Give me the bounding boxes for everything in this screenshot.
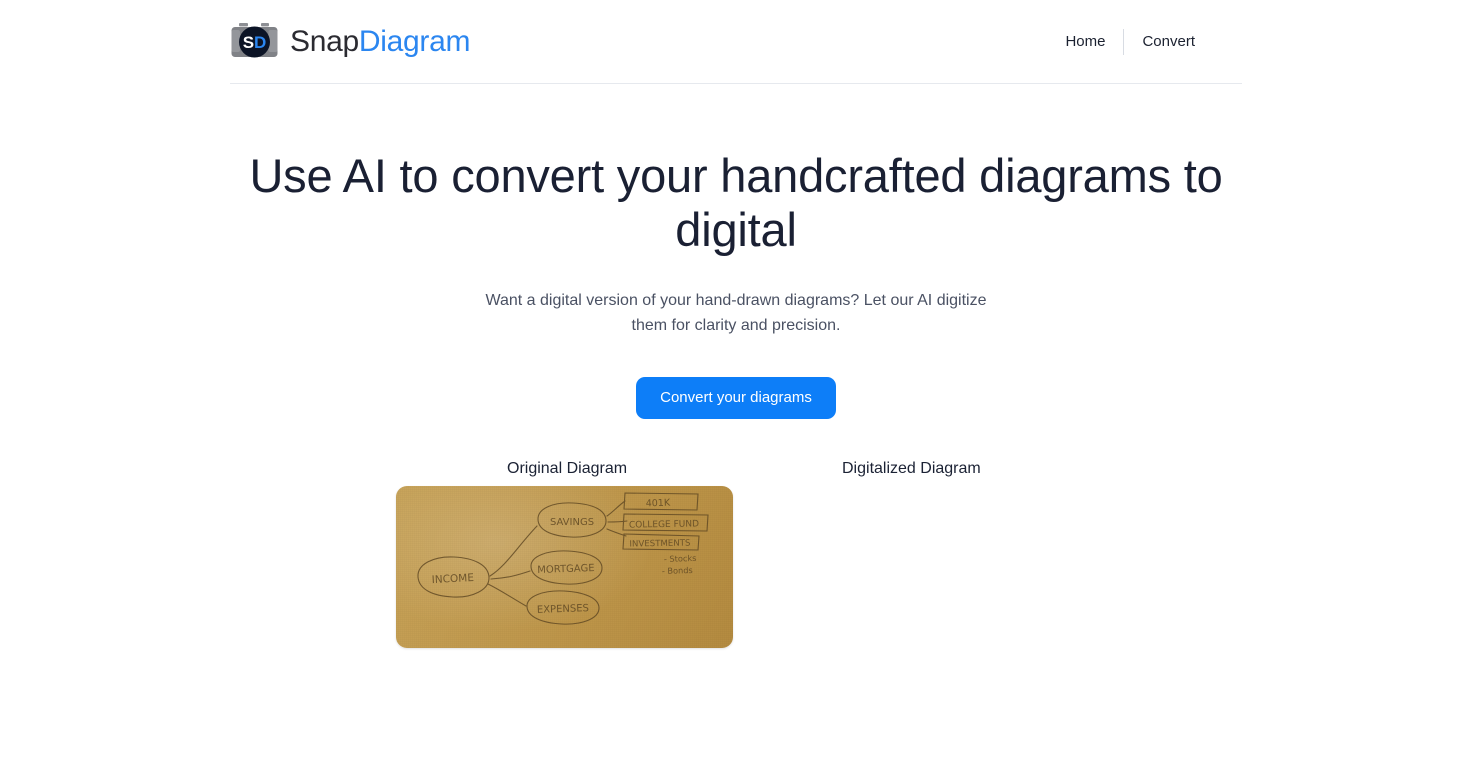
svg-text:INCOME: INCOME xyxy=(431,572,474,586)
svg-text:EXPENSES: EXPENSES xyxy=(537,603,589,616)
svg-text:401K: 401K xyxy=(646,498,672,510)
brand-name-snap: Snap xyxy=(290,25,359,58)
svg-text:- Bonds: - Bonds xyxy=(662,565,693,576)
main-nav: Home Convert xyxy=(1047,29,1213,55)
svg-text:- Stocks: - Stocks xyxy=(664,553,697,564)
hero-subtitle: Want a digital version of your hand-draw… xyxy=(484,256,989,339)
brand-name: SnapDiagram xyxy=(290,27,470,57)
original-diagram-photo: INCOME SAVINGS MORTGAGE EXPENSES 401K CO… xyxy=(396,486,733,648)
brand-logo[interactable]: SD SnapDiagram xyxy=(230,21,470,63)
handdrawn-diagram: INCOME SAVINGS MORTGAGE EXPENSES 401K CO… xyxy=(396,486,733,648)
camera-icon: SD xyxy=(230,21,279,63)
cta-container: Convert your diagrams xyxy=(230,339,1242,419)
svg-text:COLLEGE FUND: COLLEGE FUND xyxy=(629,519,699,530)
svg-text:MORTGAGE: MORTGAGE xyxy=(537,563,595,576)
site-header: SD SnapDiagram Home Convert xyxy=(230,0,1242,84)
hero-section: Use AI to convert your handcrafted diagr… xyxy=(230,84,1242,419)
convert-diagrams-button[interactable]: Convert your diagrams xyxy=(636,377,836,419)
original-diagram-label: Original Diagram xyxy=(507,460,627,478)
nav-convert[interactable]: Convert xyxy=(1124,31,1213,53)
page-title: Use AI to convert your handcrafted diagr… xyxy=(230,84,1242,256)
svg-text:INVESTMENTS: INVESTMENTS xyxy=(629,538,690,549)
svg-text:SAVINGS: SAVINGS xyxy=(550,517,594,528)
brand-name-diagram: Diagram xyxy=(359,25,470,58)
digitalized-diagram-label: Digitalized Diagram xyxy=(842,460,981,478)
svg-text:SD: SD xyxy=(243,33,267,52)
digitalized-diagram: INCOMESAVINGSMORTGAGEEXPENSES 401kColleg… xyxy=(735,480,1095,740)
nav-home[interactable]: Home xyxy=(1047,31,1123,53)
